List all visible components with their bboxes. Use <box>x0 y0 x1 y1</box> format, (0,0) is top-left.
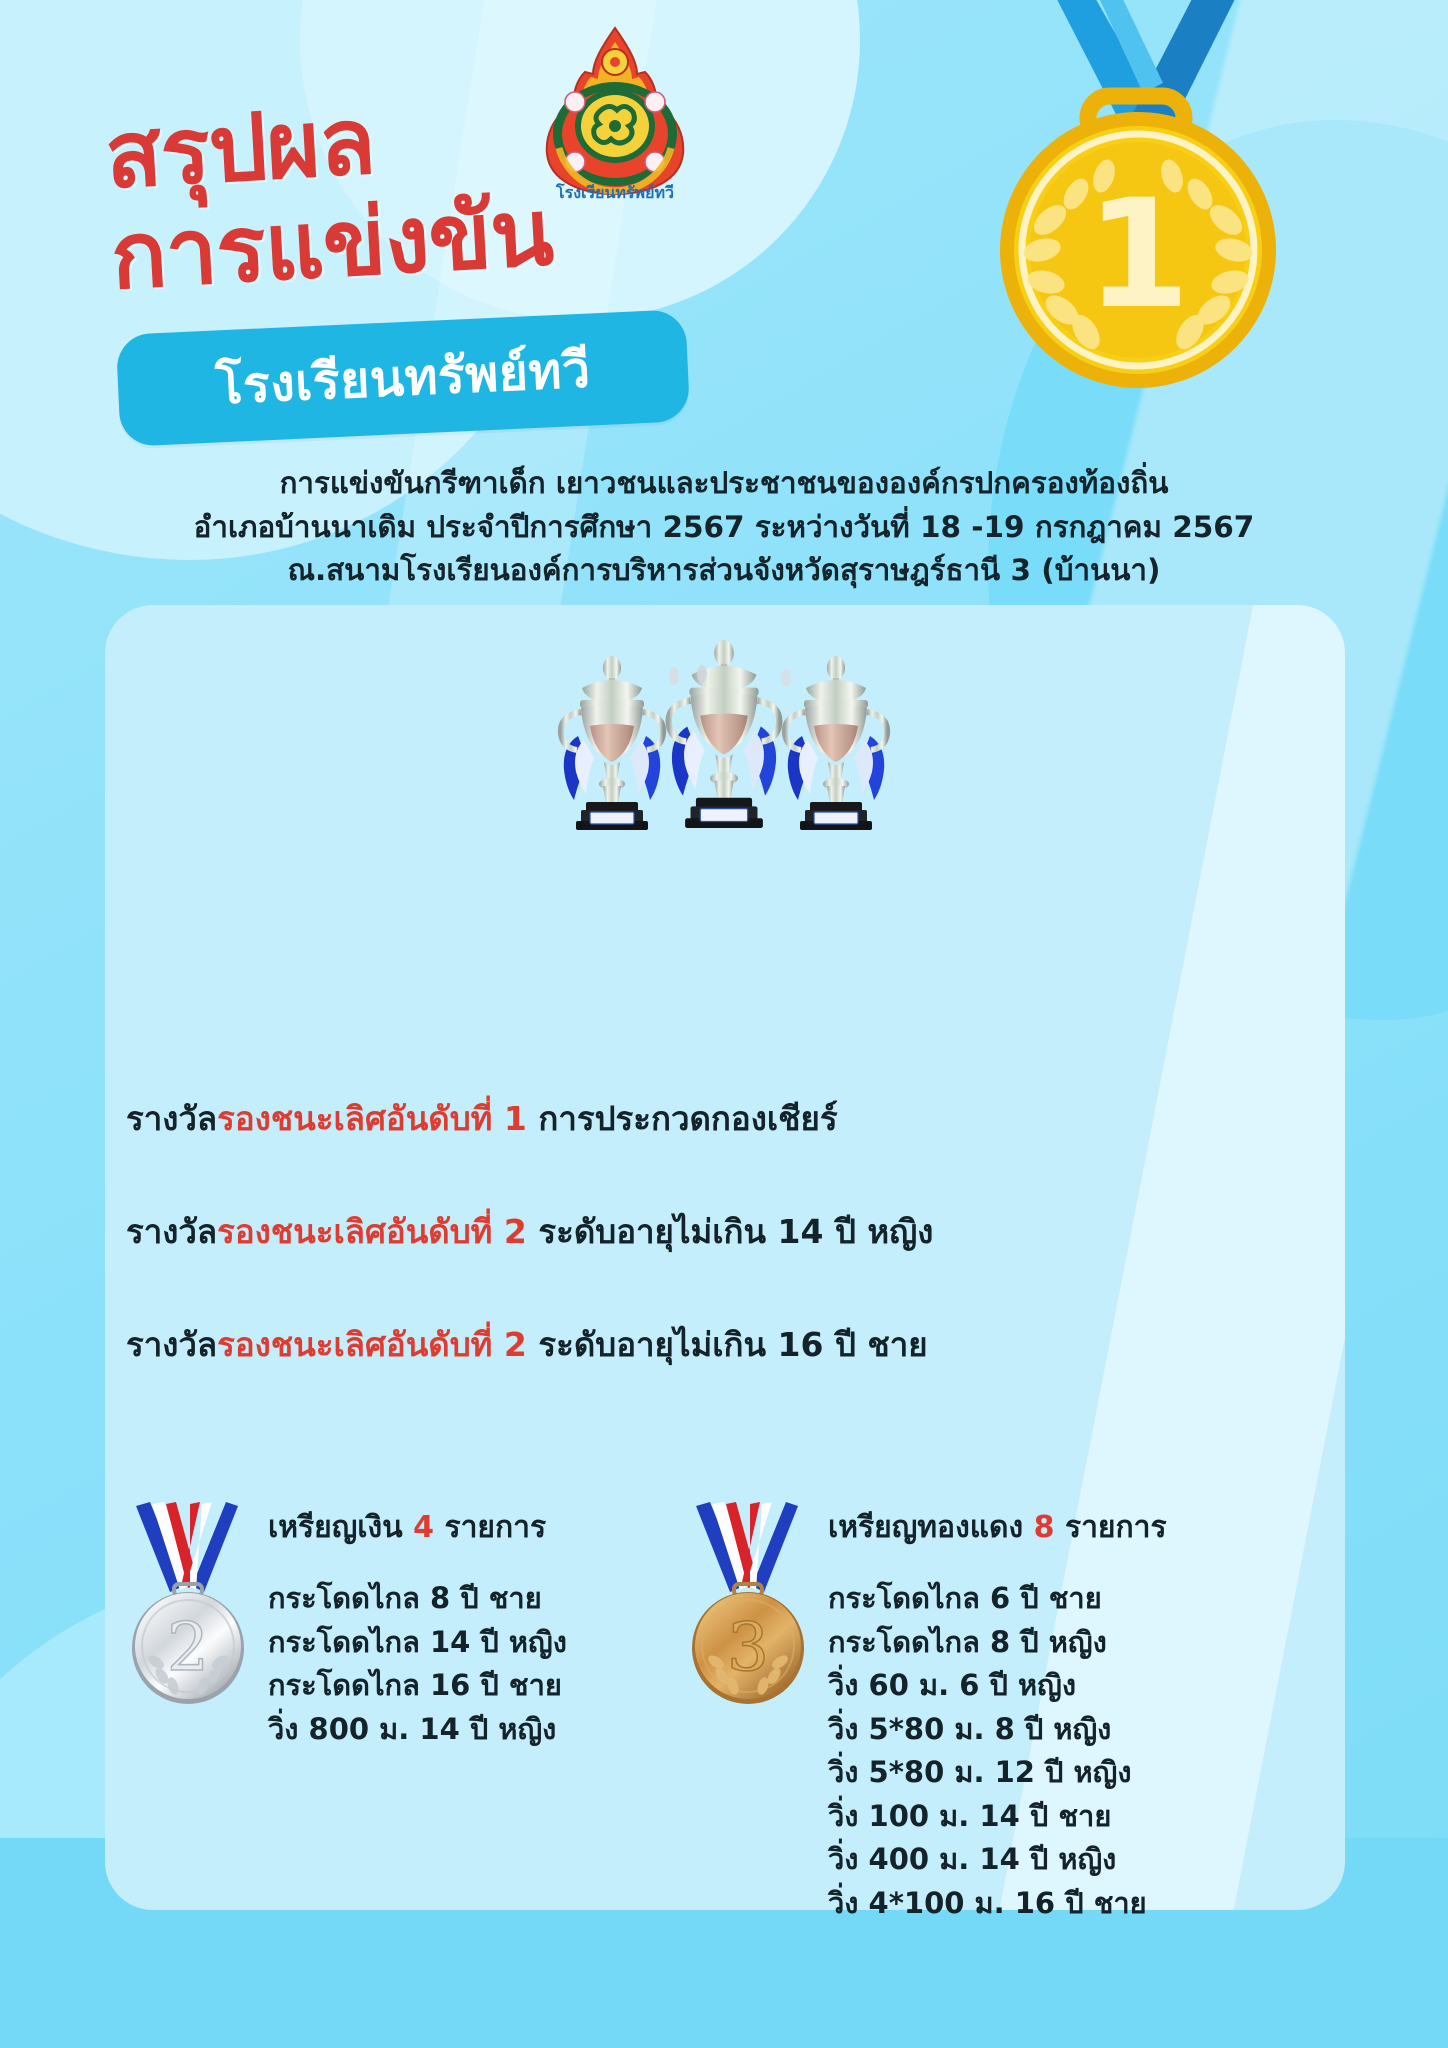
bronze-medal-number: 3 <box>727 1609 769 1686</box>
bronze-medal-text: เหรียญทองแดง 8 รายการ กระโดดไกล 6 ปี ชาย… <box>828 1500 1167 1925</box>
silver-heading-prefix: เหรียญเงิน <box>268 1510 413 1545</box>
award-prefix: รางวัล <box>126 1099 217 1138</box>
list-item: วิ่ง 100 ม. 14 ปี ชาย <box>828 1795 1167 1839</box>
trophies-photo-icon <box>534 618 914 858</box>
medal-summary: 2 เหรียญเงิน 4 รายการ กระโดดไกล 8 ปี ชาย… <box>118 1500 1333 1925</box>
description-line-1: การแข่งขันกรีฑาเด็ก เยาวชนและประชาชนของอ… <box>0 462 1448 506</box>
event-description: การแข่งขันกรีฑาเด็ก เยาวชนและประชาชนของอ… <box>0 462 1448 593</box>
list-item: วิ่ง 5*80 ม. 12 ปี หญิง <box>828 1751 1167 1795</box>
awards-list: รางวัลรองชนะเลิศอันดับที่ 1 การประกวดกอง… <box>126 1092 1286 1371</box>
bronze-medal-section: 3 เหรียญทองแดง 8 รายการ กระโดดไกล 6 ปี ช… <box>678 1500 1318 1925</box>
title-line-2: การแข่งขัน <box>108 184 554 305</box>
description-line-3: ณ.สนามโรงเรียนองค์การบริหารส่วนจังหวัดสุ… <box>0 549 1448 593</box>
bronze-medal-icon: 3 <box>678 1500 818 1710</box>
list-item: วิ่ง 60 ม. 6 ปี หญิง <box>828 1664 1167 1708</box>
silver-medal-number: 2 <box>167 1609 209 1686</box>
list-item: วิ่ง 800 ม. 14 ปี หญิง <box>268 1708 567 1752</box>
silver-medal-text: เหรียญเงิน 4 รายการ กระโดดไกล 8 ปี ชาย ก… <box>268 1500 567 1751</box>
school-emblem: โรงเรียนทรัพย์ทวี <box>525 22 705 202</box>
page-title: สรุปผล การแข่งขัน <box>103 84 555 306</box>
school-emblem-caption: โรงเรียนทรัพย์ทวี <box>525 181 705 206</box>
award-row: รางวัลรองชนะเลิศอันดับที่ 1 การประกวดกอง… <box>126 1092 1286 1145</box>
silver-count: 4 <box>413 1510 434 1545</box>
description-line-2: อำเภอบ้านนาเดิม ประจำปีการศึกษา 2567 ระห… <box>0 506 1448 550</box>
poster-root: สรุปผล การแข่งขัน <box>0 0 1448 2048</box>
list-item: กระโดดไกล 8 ปี หญิง <box>828 1621 1167 1665</box>
award-event: ระดับอายุไม่เกิน 16 ปี ชาย <box>527 1325 928 1364</box>
silver-medal-section: 2 เหรียญเงิน 4 รายการ กระโดดไกล 8 ปี ชาย… <box>118 1500 678 1925</box>
silver-heading-suffix: รายการ <box>434 1510 546 1545</box>
silver-medal-icon: 2 <box>118 1500 258 1710</box>
school-emblem-icon <box>525 22 705 202</box>
award-prefix: รางวัล <box>126 1212 217 1251</box>
bronze-medal-graphic: 3 <box>678 1500 828 1714</box>
award-row: รางวัลรองชนะเลิศอันดับที่ 2 ระดับอายุไม่… <box>126 1318 1286 1371</box>
award-prefix: รางวัล <box>126 1325 217 1364</box>
list-item: กระโดดไกล 14 ปี หญิง <box>268 1621 567 1665</box>
bronze-heading-suffix: รายการ <box>1055 1510 1167 1545</box>
trophies-photo <box>534 618 914 858</box>
award-rank: รองชนะเลิศอันดับที่ 1 <box>217 1099 527 1138</box>
school-name-banner: โรงเรียนทรัพย์ทวี <box>116 309 690 447</box>
award-rank: รองชนะเลิศอันดับที่ 2 <box>217 1212 527 1251</box>
gold-medal: 1 <box>958 0 1318 388</box>
list-item: กระโดดไกล 16 ปี ชาย <box>268 1664 567 1708</box>
list-item: วิ่ง 5*80 ม. 8 ปี หญิง <box>828 1708 1167 1752</box>
bronze-heading: เหรียญทองแดง 8 รายการ <box>828 1504 1167 1551</box>
gold-medal-number: 1 <box>1086 168 1190 342</box>
list-item: กระโดดไกล 8 ปี ชาย <box>268 1577 567 1621</box>
award-event: การประกวดกองเชียร์ <box>527 1099 838 1138</box>
bronze-count: 8 <box>1034 1510 1055 1545</box>
list-item: วิ่ง 4*100 ม. 16 ปี ชาย <box>828 1882 1167 1926</box>
award-rank: รองชนะเลิศอันดับที่ 2 <box>217 1325 527 1364</box>
award-event: ระดับอายุไม่เกิน 14 ปี หญิง <box>527 1212 934 1251</box>
bronze-heading-prefix: เหรียญทองแดง <box>828 1510 1034 1545</box>
list-item: กระโดดไกล 6 ปี ชาย <box>828 1577 1167 1621</box>
silver-medal-graphic: 2 <box>118 1500 268 1714</box>
award-row: รางวัลรองชนะเลิศอันดับที่ 2 ระดับอายุไม่… <box>126 1205 1286 1258</box>
school-name-label: โรงเรียนทรัพย์ทวี <box>214 330 592 426</box>
list-item: วิ่ง 400 ม. 14 ปี หญิง <box>828 1838 1167 1882</box>
gold-medal-icon: 1 <box>958 0 1318 388</box>
silver-heading: เหรียญเงิน 4 รายการ <box>268 1504 567 1551</box>
